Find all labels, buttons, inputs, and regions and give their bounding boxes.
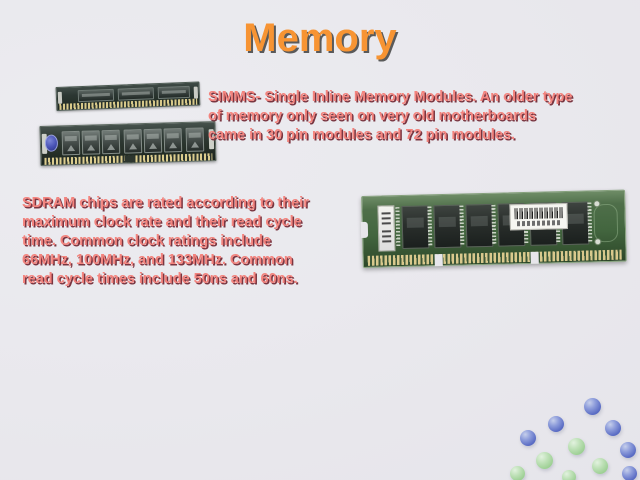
simm-small-chip (158, 86, 190, 99)
simm-large-chip (186, 127, 205, 151)
dimm-key-notch (435, 254, 443, 266)
dimm-key-notch (531, 252, 539, 264)
simm-large-chip (82, 130, 101, 154)
sdram-description-text: SDRAM chips are rated according to their… (22, 194, 352, 289)
simms-description-text: SIMMS- Single Inline Memory Modules. An … (208, 88, 608, 145)
simm-small-notch-right (194, 87, 198, 99)
simm-large-chip (124, 129, 143, 153)
simm-large-chip (102, 130, 121, 154)
decorative-sphere (562, 470, 576, 480)
decorative-sphere (520, 430, 536, 446)
decorative-sphere (510, 466, 525, 480)
decorative-sphere (605, 420, 621, 436)
sdram-line: maximum clock rate and their read cycle (22, 213, 352, 232)
simm-72pin-module-photo (39, 121, 216, 166)
simm-small-notch-left (58, 92, 62, 104)
dimm-circuit-trace (593, 204, 618, 243)
simm-small-chip (78, 89, 114, 102)
simm-large-chip (62, 131, 81, 155)
dimm-barcode-label (509, 203, 568, 230)
decorative-sphere (568, 438, 585, 455)
simm-large-chip (144, 129, 163, 153)
dimm-side-notch (361, 222, 368, 238)
dimm-chip (433, 205, 461, 249)
simms-line: SIMMS- Single Inline Memory Modules. An … (208, 88, 608, 107)
decorative-sphere (592, 458, 608, 474)
dimm-chip (465, 204, 493, 248)
simm-modules-image (40, 82, 216, 177)
barcode-bars (514, 207, 562, 219)
decorative-sphere (620, 442, 636, 458)
simm-30pin-module-photo (56, 81, 201, 111)
barcode-text (517, 220, 561, 226)
simm-small-chip (118, 87, 154, 100)
sdram-line: read cycle times include 50ns and 60ns. (22, 270, 352, 289)
simms-line: of memory only seen on very old motherbo… (208, 107, 608, 126)
page-title: Memory (0, 16, 640, 61)
sdram-line: SDRAM chips are rated according to their (22, 194, 352, 213)
decorative-sphere (584, 398, 601, 415)
sdram-line: time. Common clock ratings include (22, 232, 352, 251)
decorative-spheres (510, 390, 640, 480)
simm-large-finger-gap (124, 155, 134, 162)
decorative-sphere (536, 452, 553, 469)
slide: Memory SIMMS- Si (0, 0, 640, 480)
decorative-sphere (548, 416, 564, 432)
sdram-line: 66MHz, 100MHz, and 133MHz. Common (22, 251, 352, 270)
dimm-chip (401, 205, 429, 249)
simms-line: came in 30 pin modules and 72 pin module… (208, 126, 608, 145)
decorative-sphere (622, 466, 637, 480)
simm-large-chip (164, 128, 183, 152)
sdram-dimm-module-photo (361, 190, 627, 268)
dimm-spec-label (377, 205, 395, 251)
